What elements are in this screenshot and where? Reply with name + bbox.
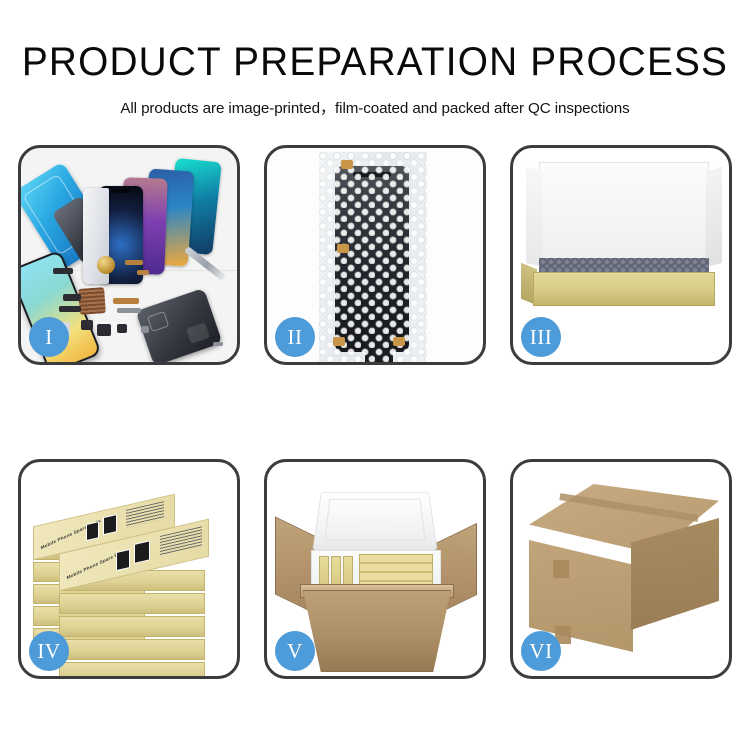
- phone-notch-icon: [112, 189, 130, 193]
- panel-stacked-boxes: Mobile Phone Spare Parts Mobile Phone Sp…: [18, 459, 240, 679]
- foam-cooler-lid-icon: [312, 492, 437, 550]
- part-small-screw-icon: [213, 342, 223, 346]
- part-bracket-b-icon: [59, 306, 81, 312]
- panel-carton-with-foam-cooler: V: [264, 459, 486, 679]
- process-steps-grid: I II: [18, 145, 732, 679]
- box-spec-lines-a: [126, 501, 164, 528]
- yellow-box-tray-icon: [533, 272, 715, 306]
- carton-body-icon: [303, 590, 451, 672]
- stacked-box-front-5: [59, 662, 205, 676]
- page-subtitle: All products are image-printed，film-coat…: [0, 96, 750, 118]
- header: PRODUCT PREPARATION PROCESS All products…: [0, 0, 750, 118]
- speaker-coil-icon: [97, 256, 115, 274]
- page-title: PRODUCT PREPARATION PROCESS: [11, 40, 739, 85]
- panel-sealed-carton: VI: [510, 459, 732, 679]
- product-preparation-process-graphic: PRODUCT PREPARATION PROCESS All products…: [0, 0, 750, 750]
- part-camera-module-icon: [81, 320, 93, 330]
- stacked-box-front-4: [59, 639, 205, 660]
- part-flex-cable-b-icon: [137, 270, 149, 275]
- step-badge: II: [275, 317, 315, 357]
- step-badge: V: [275, 631, 315, 671]
- bubble-bag: [319, 152, 427, 362]
- panel-bubble-wrapped-screen: II: [264, 145, 486, 365]
- panel-parts-overview: I: [18, 145, 240, 365]
- carton-flap-tab-upper-icon: [553, 560, 569, 578]
- part-screw-set-icon: [141, 326, 149, 333]
- part-speaker-icon: [97, 324, 111, 336]
- white-foam-sheet-icon: [543, 166, 705, 264]
- tape-strip-mid-icon: [337, 244, 349, 253]
- panel-open-flat-box: III: [510, 145, 732, 365]
- step-badge: IV: [29, 631, 69, 671]
- part-bracket-a-icon: [63, 294, 81, 301]
- stacked-box-front-2: [59, 593, 205, 614]
- box-phone-image-c: [116, 549, 130, 571]
- tape-strip-top-icon: [341, 160, 353, 169]
- part-flex-cable-a-icon: [125, 260, 143, 265]
- part-flex-cable-c-icon: [113, 298, 139, 304]
- part-battery-connector-icon: [53, 268, 73, 274]
- box-phone-image-d: [134, 540, 150, 564]
- step-badge: I: [29, 317, 69, 357]
- step-badge: VI: [521, 631, 561, 671]
- ic-chip-icon: [78, 287, 106, 315]
- part-vibrator-icon: [117, 324, 127, 333]
- phone-back-housing-icon: [136, 288, 223, 362]
- box-phone-image-b: [103, 514, 117, 535]
- part-shield-plate-icon: [117, 308, 141, 313]
- tape-strip-bottom-left-icon: [333, 337, 345, 346]
- box-phone-image-a: [86, 521, 99, 541]
- box-spec-lines-b: [160, 526, 202, 556]
- tape-strip-bottom-right-icon: [393, 337, 405, 346]
- step-badge: III: [521, 317, 561, 357]
- bubble-wrap-texture: [319, 152, 427, 362]
- stacked-box-front-3: [59, 616, 205, 637]
